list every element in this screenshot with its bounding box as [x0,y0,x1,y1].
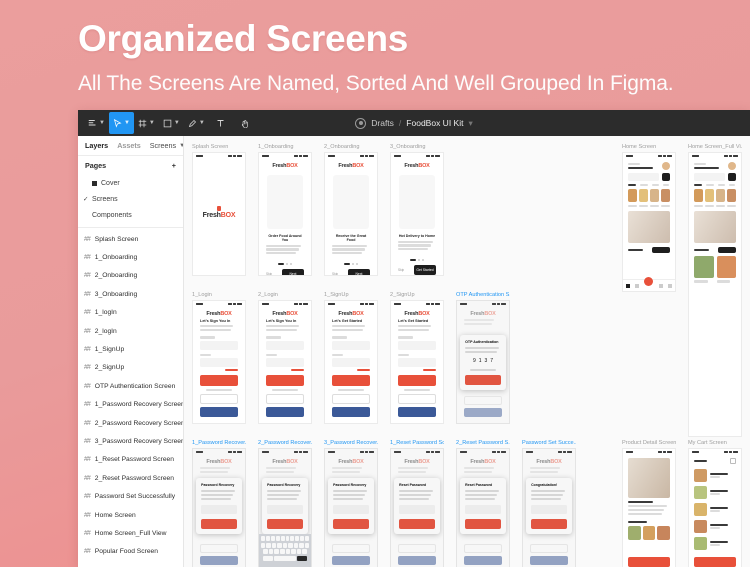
recovery-input[interactable] [531,505,567,514]
page-subtitle: All The Screens Are Named, Sorted And We… [78,72,750,96]
recovery-modal[interactable]: Password Recovery [328,478,374,534]
page-title: Organized Screens [78,18,750,61]
category-row[interactable] [689,189,741,205]
modal-continue-button[interactable] [333,519,369,529]
account-icon[interactable] [355,118,366,129]
chevron-down-icon[interactable]: ▾ [468,118,472,129]
layer-item-label: 2_Onboarding [95,272,137,279]
frame-label[interactable]: Home Screen_Full Vi... [688,144,742,150]
pages-title: Pages [85,161,106,170]
recovery-modal[interactable]: Congratulation! [526,478,572,534]
google-signin-button[interactable] [398,394,436,404]
email-field[interactable] [332,341,370,350]
facebook-signin-button[interactable] [398,407,436,417]
google-signin-button[interactable] [200,394,238,404]
onboard-heading: Receive the Great Food [332,234,370,242]
canvas-frame[interactable]: Splash ScreenFreshBOX [192,144,246,276]
skip-button[interactable]: Skip [332,272,344,276]
phone-frame[interactable]: FreshBOXReceive the Great FoodSkipNext [324,152,378,276]
primary-cta[interactable]: Next [348,269,370,276]
phone-frame[interactable]: FreshBOXLet's Sign You In [258,300,312,424]
freshbox-logo: FreshBOX [199,311,239,317]
avatar[interactable] [728,162,736,170]
freshbox-logo: FreshBOX [203,212,236,219]
illustration [399,175,435,229]
modal-continue-button[interactable] [465,519,501,529]
breadcrumb-separator: / [399,118,401,128]
canvas-frame[interactable]: 2_Password Recover...FreshBOXPassword Re… [258,440,312,567]
layers-list: ##Splash Screen##1_Onboarding##2_Onboard… [78,230,183,567]
freshbox-logo: FreshBOX [463,311,503,317]
phone-frame[interactable]: FreshBOXPassword Recovery [324,448,378,567]
illustration [267,175,303,229]
modal-continue-button[interactable] [201,519,237,529]
layer-item[interactable]: ##Password Set Successfully [78,487,183,505]
frame-label[interactable]: 1_Password Recover... [192,440,246,446]
form-heading: Let's Get Started [332,319,370,323]
text-tool-icon[interactable] [209,112,233,134]
cart-item[interactable] [689,501,741,518]
frame-icon: ## [84,548,90,555]
page-dots[interactable] [259,263,311,265]
facebook-signin-button[interactable] [332,407,370,417]
figma-window: ▼ ▼ ▼ ▼ ▼ [78,110,750,567]
phone-frame[interactable] [688,152,742,437]
hand-tool-icon[interactable] [233,112,257,134]
phone-frame[interactable] [622,152,676,292]
cart-icon[interactable] [730,458,736,464]
freshbox-logo: FreshBOX [397,311,437,317]
phone-frame[interactable]: FreshBOXOTP Authentication9137 [456,300,510,424]
frame-label[interactable]: 2_Onboarding [324,144,378,150]
toolbar: ▼ ▼ ▼ ▼ ▼ [78,110,750,136]
avatar[interactable] [662,162,670,170]
frame-label[interactable]: 1_SignUp [324,292,378,298]
frame-label[interactable]: 3_Onboarding [390,144,444,150]
cart-item[interactable] [689,467,741,484]
canvas-frame[interactable]: 2_SignUpFreshBOXLet's Get Started [390,292,444,424]
chevron-down-icon: ▼ [199,120,205,126]
page-item-label: Cover [101,180,120,187]
layer-item-label: Splash Screen [95,236,139,243]
modal-continue-button[interactable] [531,519,567,529]
frame-label[interactable]: 1_Login [192,292,246,298]
frame-icon: ## [84,493,90,500]
phone-frame[interactable]: FreshBOXReset Password [456,448,510,567]
frame-label[interactable]: 2_Reset Password S... [456,440,510,446]
chevron-down-icon: ▼ [174,120,180,126]
frame-label[interactable]: Splash Screen [192,144,246,150]
canvas-frame[interactable]: 1_Reset Password Sc...FreshBOXReset Pass… [390,440,444,567]
otp-continue-button[interactable] [465,375,501,385]
frame-tool-icon[interactable]: ▼ [134,112,159,134]
canvas-frame[interactable]: 2_LoginFreshBOXLet's Sign You In [258,292,312,424]
breadcrumb-current[interactable]: FoodBox UI Kit [406,118,463,128]
canvas-frame[interactable]: Password Set Succe...FreshBOXCongratulat… [522,440,576,567]
otp-modal[interactable]: OTP Authentication9137 [460,335,506,390]
frame-icon: ## [84,236,90,243]
freshbox-logo: FreshBOX [331,311,371,317]
frame-label[interactable]: Home Screen [622,144,676,150]
cart-item[interactable] [689,535,741,552]
canvas-frame[interactable]: 3_Password Recover...FreshBOXPassword Re… [324,440,378,567]
panel-divider [78,227,183,228]
primary-cta[interactable]: Get Started [414,265,436,275]
layer-item[interactable]: ##1_SignUp [78,340,183,358]
modal-title: Reset Password [399,483,435,487]
promo-banner[interactable] [694,211,736,243]
recovery-input[interactable] [399,505,435,514]
otp-digit[interactable]: 7 [490,358,493,364]
frame-icon: ## [84,272,90,279]
move-tool-icon[interactable]: ▼ [109,112,134,134]
password-field[interactable] [332,358,370,367]
canvas-frame[interactable]: 2_OnboardingFreshBOXReceive the Great Fo… [324,144,378,276]
layer-item-label: 3_Password Recovery Screen [95,438,184,445]
freshbox-logo: FreshBOX [199,459,239,465]
frame-icon: ## [84,383,90,390]
canvas-frame[interactable]: 1_SignUpFreshBOXLet's Get Started [324,292,378,424]
email-field[interactable] [266,341,304,350]
recovery-modal[interactable]: Reset Password [394,478,440,534]
layer-item-label: 1_logIn [95,309,117,316]
layer-item[interactable]: ##Splash Screen [78,230,183,248]
layer-item-label: 1_Password Recovery Screen [95,401,184,408]
skip-button[interactable]: Skip [398,268,410,272]
pages-header: Pages + [78,156,183,175]
phone-frame[interactable]: FreshBOXCongratulation! [522,448,576,567]
modal-title: Reset Password [465,483,501,487]
phone-frame[interactable]: FreshBOXPassword Recovery [258,448,312,567]
shape-tool-icon[interactable]: ▼ [159,112,184,134]
layer-item-label: 2_Reset Password Screen [95,475,174,482]
frame-icon: ## [84,456,90,463]
layer-item-label: OTP Authentication Screen [95,383,176,390]
bag-icon [217,206,221,211]
pages-list: Cover✓ScreensComponents [78,175,183,223]
layer-item-label: 2_logIn [95,328,117,335]
layer-item[interactable]: ##2_Onboarding [78,267,183,285]
filter-button[interactable] [662,173,670,181]
facebook-signin-button[interactable] [200,407,238,417]
phone-frame[interactable]: FreshBOXHot Delivery to HomeSkipGet Star… [390,152,444,276]
layer-item[interactable]: ##1_Reset Password Screen [78,451,183,469]
frame-label[interactable]: My Cart Screen [688,440,742,446]
form-heading: Let's Sign You In [266,319,304,323]
see-all-button[interactable] [652,247,670,253]
layer-item-label: 3_Onboarding [95,291,137,298]
bottom-nav[interactable] [623,279,675,291]
chevron-down-icon: ▼ [149,120,155,126]
recovery-modal[interactable]: Reset Password [460,478,506,534]
main-menu-icon[interactable]: ▼ [84,112,109,134]
frame-icon: ## [84,438,90,445]
layers-panel: Layers Assets Screens ▼ Pages + Cover✓Sc… [78,136,184,567]
freshbox-logo: FreshBOX [397,163,437,169]
layer-item-label: Home Screen_Full View [95,530,167,537]
layer-item[interactable]: ##1_Onboarding [78,248,183,266]
check-icon: ✓ [83,195,88,203]
frame-icon: ## [84,328,90,335]
layer-item[interactable]: ##1_logIn [78,304,183,322]
canvas-frame[interactable]: 1_LoginFreshBOXLet's Sign You In [192,292,246,424]
phone-frame[interactable]: FreshBOXReset Password [390,448,444,567]
pen-tool-icon[interactable]: ▼ [184,112,209,134]
frame-label[interactable]: OTP Authentication S... [456,292,510,298]
onboard-heading: Order Food Around You [266,234,304,242]
frame-icon: ## [84,512,90,519]
canvas-frame[interactable]: My Cart Screen [688,440,742,567]
category-row[interactable] [623,189,675,205]
page-selector[interactable]: Screens ▼ [150,141,184,150]
google-signin-button[interactable] [266,394,304,404]
canvas-frame[interactable]: Home Screen [622,144,676,292]
layer-item-label: Home Screen [95,512,136,519]
primary-cta[interactable] [332,375,370,386]
canvas-frame[interactable]: 1_Password Recover...FreshBOXPassword Re… [192,440,246,567]
recovery-input[interactable] [267,505,303,514]
canvas-frame[interactable]: 2_Reset Password S...FreshBOXReset Passw… [456,440,510,567]
phone-frame[interactable]: FreshBOXLet's Get Started [390,300,444,424]
layer-item[interactable]: ##Home Screen [78,506,183,524]
toolbar-tools: ▼ ▼ ▼ ▼ ▼ [84,112,257,134]
frame-icon: ## [84,309,90,316]
primary-cta[interactable]: Next [282,269,304,276]
page-item-screens[interactable]: ✓Screens [78,191,183,207]
cart-fab[interactable] [644,277,653,286]
promo-banner[interactable] [628,211,670,243]
canvas-frame[interactable]: 3_OnboardingFreshBOXHot Delivery to Home… [390,144,444,276]
layer-item[interactable]: ##Popular Food Screen [78,543,183,561]
onboard-heading: Hot Delivery to Home [398,234,436,238]
frame-icon: ## [84,401,90,408]
password-field[interactable] [398,358,436,367]
page-item-components[interactable]: Components [78,207,183,223]
frame-icon: ## [84,291,90,298]
phone-frame[interactable]: FreshBOXPassword Recovery [192,448,246,567]
checkout-button[interactable] [694,557,736,567]
layer-item[interactable]: ##My Orders Empty Screen [78,561,183,567]
cart-item[interactable] [689,484,741,501]
email-field[interactable] [398,341,436,350]
freshbox-logo: FreshBOX [265,459,305,465]
layer-item[interactable]: ##2_SignUp [78,359,183,377]
see-all-button[interactable] [718,247,736,253]
add-page-button[interactable]: + [172,162,176,169]
frame-label[interactable]: 3_Password Recover... [324,440,378,446]
recovery-input[interactable] [333,505,369,514]
frame-label[interactable]: Password Set Succe... [522,440,576,446]
form-heading: Let's Sign You In [200,319,238,323]
page-item-label: Screens [92,196,118,203]
google-signin-button[interactable] [332,394,370,404]
modal-continue-button[interactable] [399,519,435,529]
illustration [333,175,369,229]
frame-label[interactable]: Product Detail Screen [622,440,676,446]
facebook-signin-button[interactable] [266,407,304,417]
chevron-down-icon: ▼ [124,120,130,126]
otp-digit[interactable]: 3 [485,358,488,364]
phone-frame[interactable] [688,448,742,567]
frame-label[interactable]: 2_Login [258,292,312,298]
recovery-input[interactable] [201,505,237,514]
layer-item-label: 1_Reset Password Screen [95,456,174,463]
panel-tabs: Layers Assets Screens ▼ [78,136,183,156]
canvas-frame[interactable]: 1_OnboardingFreshBOXOrder Food Around Yo… [258,144,312,276]
otp-digit[interactable]: 1 [479,358,482,364]
otp-digit[interactable]: 9 [473,358,476,364]
freshbox-logo: FreshBOX [331,163,371,169]
phone-frame[interactable]: FreshBOX [192,152,246,276]
frame-label[interactable]: 1_Reset Password Sc... [390,440,444,446]
recovery-modal[interactable]: Password Recovery [196,478,242,534]
password-field[interactable] [200,358,238,367]
layer-item-label: 1_Onboarding [95,254,137,261]
promo-header: Organized Screens All The Screens Are Na… [0,0,750,96]
frame-icon: ## [84,254,90,261]
tab-assets[interactable]: Assets [117,141,141,150]
frame-icon: ## [84,364,90,371]
primary-cta[interactable] [200,375,238,386]
email-field[interactable] [200,341,238,350]
password-field[interactable] [266,358,304,367]
breadcrumb-parent[interactable]: Drafts [371,118,394,128]
modal-title: Password Recovery [201,483,237,487]
frame-icon: ## [84,530,90,537]
modal-title: Password Recovery [333,483,369,487]
modal-title: OTP Authentication [465,340,501,344]
frame-label[interactable]: 2_SignUp [390,292,444,298]
frame-label[interactable]: 1_Onboarding [258,144,312,150]
layer-item[interactable]: ##1_Password Recovery Screen [78,396,183,414]
modal-title: Congratulation! [531,483,567,487]
phone-frame[interactable]: FreshBOXLet's Get Started [324,300,378,424]
filter-button[interactable] [728,173,736,181]
phone-frame[interactable]: FreshBOXLet's Sign You In [192,300,246,424]
phone-frame[interactable]: FreshBOXOrder Food Around YouSkipNext [258,152,312,276]
canvas-frame[interactable]: Home Screen_Full Vi... [688,144,742,437]
onscreen-keyboard[interactable] [259,534,311,567]
add-to-cart-button[interactable] [628,557,670,567]
layer-item[interactable]: ##2_Password Recovery Screen [78,414,183,432]
frame-icon: ## [84,420,90,427]
freshbox-logo: FreshBOX [397,459,437,465]
page-dots[interactable] [325,263,377,265]
layer-item-label: Popular Food Screen [95,548,158,555]
status-bar [623,449,675,455]
skip-button[interactable]: Skip [266,272,278,276]
page-dots[interactable] [391,259,443,261]
frame-label[interactable]: 2_Password Recover... [258,440,312,446]
layer-item[interactable]: ##2_logIn [78,322,183,340]
page-selector-label: Screens [150,141,176,150]
primary-cta[interactable] [398,375,436,386]
search-input[interactable] [694,173,725,181]
freshbox-logo: FreshBOX [463,459,503,465]
freshbox-logo: FreshBOX [331,459,371,465]
product-image [628,458,670,498]
layer-item[interactable]: ##3_Password Recovery Screen [78,432,183,450]
cart-item[interactable] [689,518,741,535]
layer-item-label: 2_SignUp [95,364,124,371]
canvas-frame[interactable]: Product Detail Screen [622,440,676,567]
chevron-down-icon: ▼ [99,120,105,126]
frame-icon: ## [84,475,90,482]
layer-item[interactable]: ##3_Onboarding [78,285,183,303]
layer-item-label: 2_Password Recovery Screen [95,420,184,427]
layer-item[interactable]: ##2_Reset Password Screen [78,469,183,487]
phone-frame[interactable] [622,448,676,567]
layer-item[interactable]: ##OTP Authentication Screen [78,377,183,395]
layer-item-label: 1_SignUp [95,346,124,353]
layer-item[interactable]: ##Home Screen_Full View [78,524,183,542]
recovery-modal[interactable]: Password Recovery [262,478,308,534]
form-heading: Let's Get Started [398,319,436,323]
primary-cta[interactable] [266,375,304,386]
modal-continue-button[interactable] [267,519,303,529]
layer-item-label: Password Set Successfully [95,493,175,500]
canvas-frame[interactable]: OTP Authentication S...FreshBOXOTP Authe… [456,292,510,424]
page-swatch [92,181,97,186]
modal-title: Password Recovery [267,483,303,487]
tab-layers[interactable]: Layers [85,141,108,150]
recovery-input[interactable] [465,505,501,514]
frame-icon: ## [84,346,90,353]
page-item-label: Components [92,212,132,219]
freshbox-logo: FreshBOX [265,163,305,169]
page-item-cover[interactable]: Cover [78,175,183,191]
design-canvas[interactable]: Splash ScreenFreshBOX1_OnboardingFreshBO… [184,136,750,567]
freshbox-logo: FreshBOX [529,459,569,465]
search-input[interactable] [628,173,659,181]
freshbox-logo: FreshBOX [265,311,305,317]
